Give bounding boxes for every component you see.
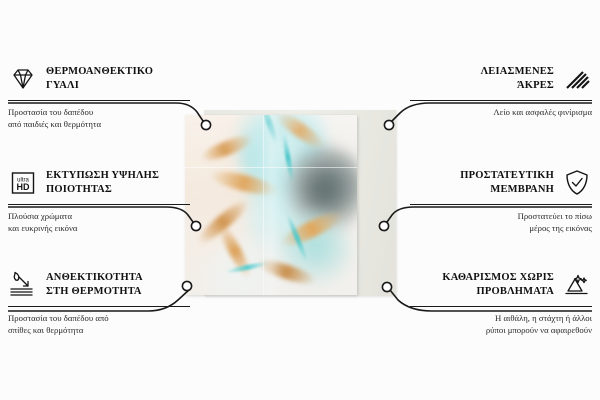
divider [8, 306, 190, 307]
sparkle-wipe-icon [562, 270, 592, 300]
diamond-icon [8, 64, 38, 94]
glass-reflection-vertical [263, 115, 264, 295]
polished-edges-icon [562, 64, 592, 94]
feature-description: Η αιθάλη, η στάχτη ή άλλοι ρύποι μπορούν… [410, 312, 592, 337]
divider [410, 204, 592, 205]
product-glass-front [185, 115, 357, 295]
divider [8, 204, 190, 205]
divider [410, 306, 592, 307]
glass-reflection-horizontal [185, 167, 357, 168]
divider [410, 100, 592, 101]
feature-title: ΠΡΟΣΤΑΤΕΥΤΙΚΗ ΜΕΜΒΡΑΝΗ [410, 169, 554, 197]
feature-description: Προστασία του δαπέδου από σπίθες και θερ… [8, 312, 190, 337]
feature-description: Προστατεύει το πίσω μέρος της εικόνας [410, 210, 592, 235]
feature-title: ΚΑΘΑΡΙΣΜΟΣ ΧΩΡΙΣ ΠΡΟΒΛΗΜΑΤΑ [410, 271, 554, 299]
feature-title: ΕΚΤΥΠΩΣΗ ΥΨΗΛΗΣ ΠΟΙΟΤΗΤΑΣ [46, 169, 190, 197]
feature-description: Πλούσια χρώματα και ευκρινής εικόνα [8, 210, 190, 235]
feature-heat-resistance: ΑΝΘΕΚΤΙΚΟΤΗΤΑ ΣΤΗ ΘΕΡΜΟΤΗΤΑ Προστασία το… [8, 268, 190, 337]
feature-polished-edges: ΛΕΙΑΣΜΕΝΕΣ ΆΚΡΕΣ Λείο και ασφαλές φινίρι… [410, 62, 592, 118]
ultra-hd-icon: ultra HD [8, 168, 38, 198]
divider [8, 100, 190, 101]
feature-protective-membrane: ΠΡΟΣΤΑΤΕΥΤΙΚΗ ΜΕΜΒΡΑΝΗ Προστατεύει το πί… [410, 166, 592, 235]
infographic-canvas: ΘΕΡΜΟΑΝΘΕΚΤΙΚΟ ΓΥΑΛΙ Προστασία του δαπέδ… [0, 0, 600, 400]
feature-description: Προστασία του δαπέδου από παιδιές και θε… [8, 106, 190, 131]
feature-heat-resistant-glass: ΘΕΡΜΟΑΝΘΕΚΤΙΚΟ ΓΥΑΛΙ Προστασία του δαπέδ… [8, 62, 190, 131]
feature-title: ΘΕΡΜΟΑΝΘΕΚΤΙΚΟ ΓΥΑΛΙ [46, 65, 190, 93]
feature-description: Λείο και ασφαλές φινίρισμα [410, 106, 592, 118]
product-image [185, 112, 400, 297]
feature-high-quality-print: ultra HD ΕΚΤΥΠΩΣΗ ΥΨΗΛΗΣ ΠΟΙΟΤΗΤΑΣ Πλούσ… [8, 166, 190, 235]
feature-title: ΛΕΙΑΣΜΕΝΕΣ ΆΚΡΕΣ [410, 65, 554, 93]
feature-easy-cleaning: ΚΑΘΑΡΙΣΜΟΣ ΧΩΡΙΣ ΠΡΟΒΛΗΜΑΤΑ Η αιθάλη, η … [410, 268, 592, 337]
shield-check-icon [562, 168, 592, 198]
flame-resistance-icon [8, 270, 38, 300]
feature-title: ΑΝΘΕΚΤΙΚΟΤΗΤΑ ΣΤΗ ΘΕΡΜΟΤΗΤΑ [46, 271, 190, 299]
svg-text:HD: HD [17, 182, 30, 192]
